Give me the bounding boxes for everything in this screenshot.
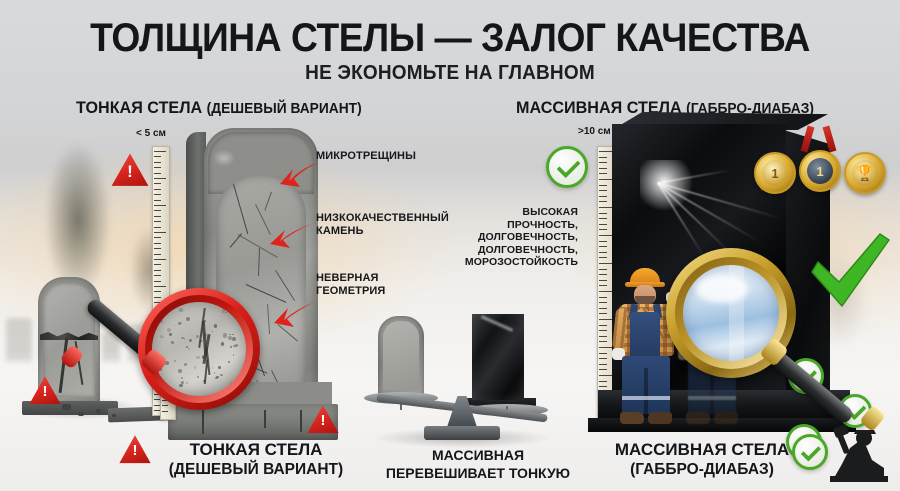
medal-first-place: 1 — [754, 152, 796, 194]
magnifier-red — [138, 288, 260, 410]
caption-massive-stela: МАССИВНАЯ СТЕЛА (ГАББРО-ДИАБАЗ) — [582, 440, 822, 480]
annotation-microcracks: МИКРОТРЕЩИНЫ — [316, 150, 416, 163]
medal-second-place: 1 — [799, 150, 841, 192]
arrow-to-microcracks — [278, 160, 320, 192]
caption-thin-line2: (ДЕШЕВЫЙ ВАРИАНТ) — [146, 460, 366, 480]
massive-thickness-label: >10 см — [578, 126, 611, 137]
arrow-to-wrong-geometry — [272, 300, 316, 330]
stone-debris — [96, 409, 101, 413]
medal-first-label: 1 — [762, 160, 788, 186]
benefit-item: ДОЛГОВЕЧНОСТЬ, — [452, 231, 578, 244]
caption-massive-line1: МАССИВНАЯ СТЕЛА — [582, 440, 822, 460]
stone-debris — [62, 404, 71, 410]
caption-thin-stela: ТОНКАЯ СТЕЛА (ДЕШЕВЫЙ ВАРИАНТ) — [146, 440, 366, 480]
thin-thickness-label: < 5 см — [136, 128, 166, 139]
medal-second-label: 1 — [807, 158, 833, 184]
stone-debris — [112, 414, 116, 417]
benefit-item: МОРОЗОСТОЙКОСТЬ — [452, 256, 578, 269]
caption-balance: МАССИВНАЯ ПЕРЕВЕШИВАЕТ ТОНКУЮ — [368, 446, 588, 482]
stone-debris — [78, 412, 84, 416]
scale-massive-stela — [472, 314, 524, 400]
section-header-thin-paren: (ДЕШЕВЫЙ ВАРИАНТ) — [207, 101, 362, 117]
arrow-to-low-quality-stone — [268, 222, 314, 252]
warning-exclamation: ! — [306, 413, 340, 428]
medal-trophy: 🏆 — [844, 152, 886, 194]
annotation-low-quality-stone: НИЗКОКАЧЕСТВЕННЫЙ КАМЕНЬ — [316, 212, 449, 238]
page-subtitle: НЕ ЭКОНОМЬТЕ НА ГЛАВНОМ — [23, 62, 878, 85]
caption-massive-line2: (ГАББРО-ДИАБАЗ) — [582, 460, 822, 480]
caption-balance-line1: МАССИВНАЯ — [368, 446, 588, 464]
check-icon-durability — [546, 146, 588, 188]
balance-scale — [362, 300, 562, 446]
benefit-item: ВЫСОКАЯ ПРОЧНОСТЬ, — [452, 206, 578, 231]
magnifier-gold — [666, 248, 796, 378]
scale-thin-stela — [378, 316, 424, 396]
caption-balance-line2: ПЕРЕВЕШИВАЕТ ТОНКУЮ — [368, 464, 588, 482]
award-medals: 1 1 🏆 — [754, 140, 882, 202]
benefits-list: ВЫСОКАЯ ПРОЧНОСТЬ, ДОЛГОВЕЧНОСТЬ, ДОЛГОВ… — [452, 206, 578, 269]
medal-trophy-label: 🏆 — [852, 160, 878, 186]
big-check-icon — [806, 228, 892, 312]
page-title: ТОЛЩИНА СТЕЛЫ — ЗАЛОГ КАЧЕСТВА — [32, 16, 869, 61]
benefit-item: ДОЛГОВЕЧНОСТЬ, — [452, 244, 578, 257]
warning-exclamation: ! — [28, 384, 62, 399]
warning-exclamation: ! — [110, 163, 150, 180]
section-header-thin-main: ТОНКАЯ СТЕЛА — [76, 98, 207, 117]
annotation-wrong-geometry: НЕВЕРНАЯ ГЕОМЕТРИЯ — [316, 272, 385, 298]
caption-thin-line1: ТОНКАЯ СТЕЛА — [146, 440, 366, 460]
section-header-thin: ТОНКАЯ СТЕЛА (ДЕШЕВЫЙ ВАРИАНТ) — [76, 98, 362, 118]
stonemason-emblem — [828, 420, 890, 484]
infographic-canvas: ТОЛЩИНА СТЕЛЫ — ЗАЛОГ КАЧЕСТВА НЕ ЭКОНОМ… — [0, 0, 900, 491]
